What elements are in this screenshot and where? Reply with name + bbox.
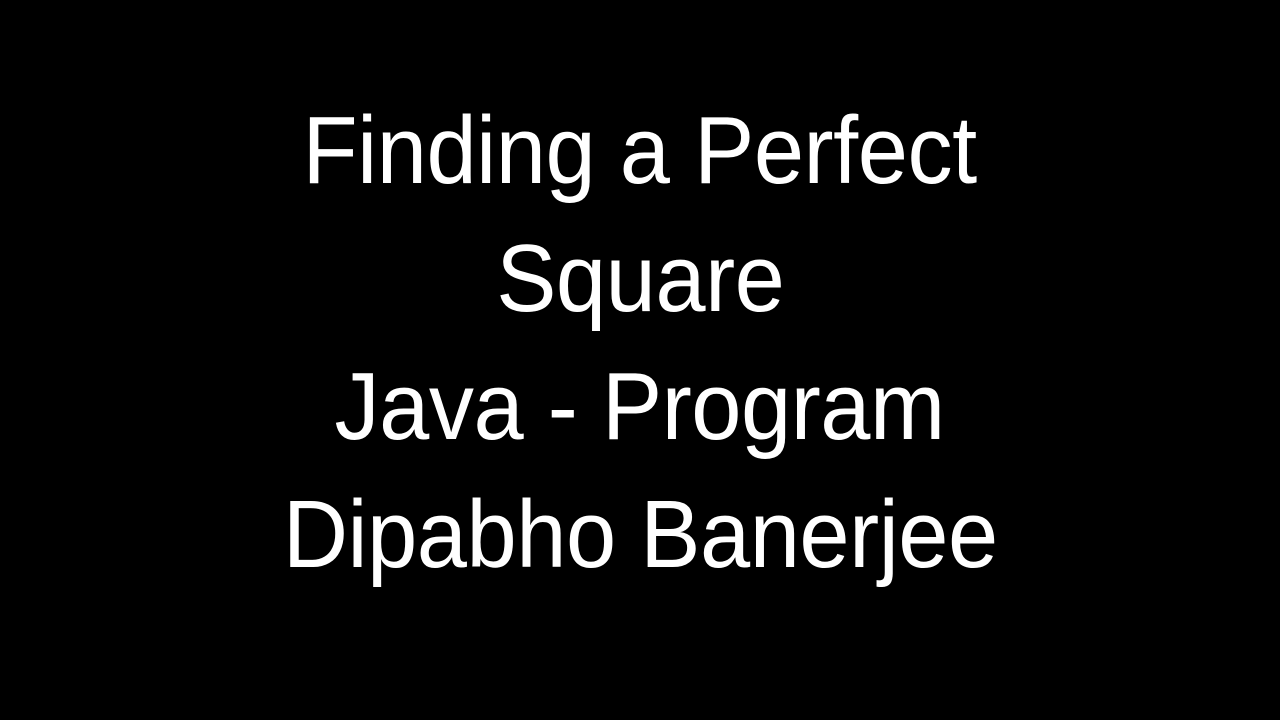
title-line-1: Finding a Perfect [303,87,977,215]
title-text-block: Finding a Perfect Square Java - Program … [0,87,1280,599]
title-line-3-subtitle: Java - Program [335,343,945,471]
title-line-2: Square [496,215,784,343]
title-line-4-author: Dipabho Banerjee [283,471,998,599]
title-card-screen: Finding a Perfect Square Java - Program … [0,0,1280,720]
